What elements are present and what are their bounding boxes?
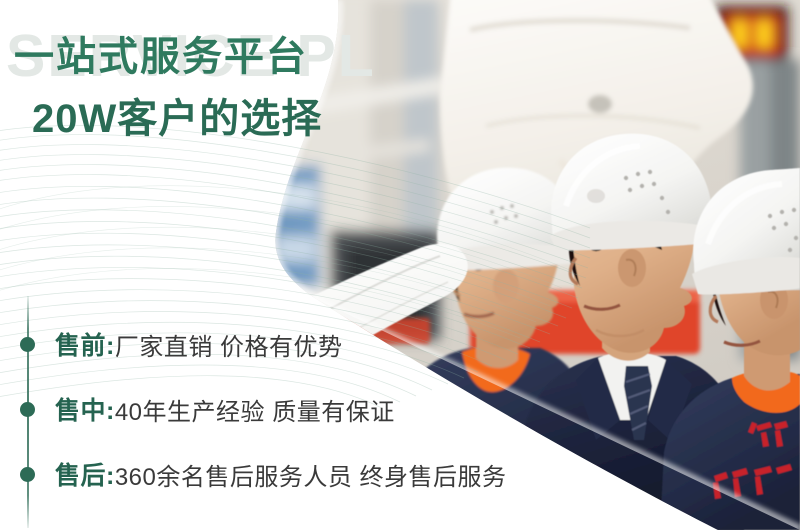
list-item: 售后: 360余名售后服务人员 终身售后服务 [0, 453, 507, 495]
headline-block: 一站式服务平台 20W客户的选择 [0, 36, 322, 140]
list-item: 售中: 40年生产经验 质量有保证 [0, 388, 395, 430]
service-text: 厂家直销 价格有优势 [115, 327, 343, 362]
service-label: 售后: [55, 456, 115, 492]
bullet-dot-icon [20, 337, 35, 352]
promo-banner: SERVICE PL 一站式服务平台 20W客户的选择 售前: 厂家直销 价格有… [0, 0, 800, 530]
headline-secondary: 20W客户的选择 [0, 98, 322, 140]
service-text: 360余名售后服务人员 终身售后服务 [115, 457, 507, 492]
service-label: 售中: [55, 391, 115, 427]
service-text: 40年生产经验 质量有保证 [115, 392, 395, 427]
bullet-dot-icon [20, 467, 35, 482]
list-item: 售前: 厂家直销 价格有优势 [0, 323, 343, 365]
service-label: 售前: [55, 326, 115, 362]
headline-primary: 一站式服务平台 [0, 36, 322, 78]
service-list: 售前: 厂家直销 价格有优势 售中: 40年生产经验 质量有保证 售后: 360… [0, 296, 620, 528]
bullet-dot-icon [20, 402, 35, 417]
